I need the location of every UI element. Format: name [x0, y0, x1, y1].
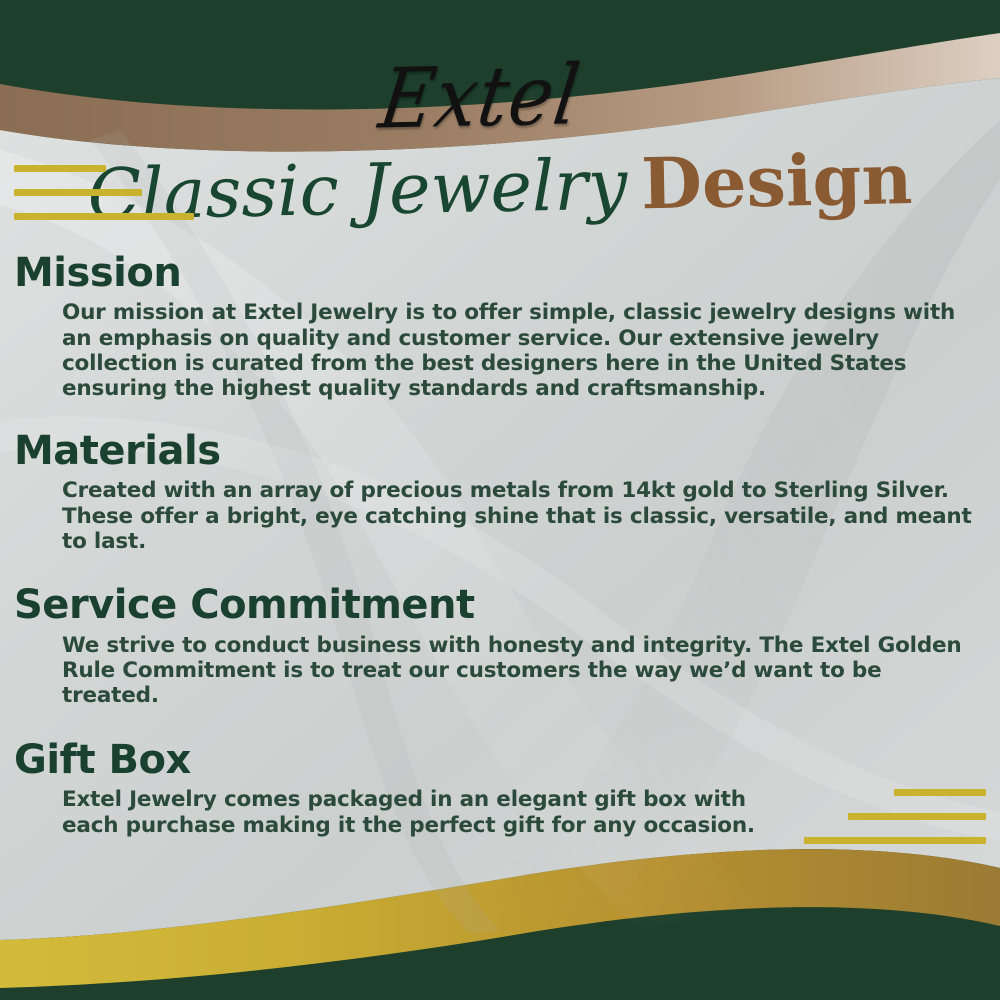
- section-mission: Mission Our mission at Extel Jewelry is …: [0, 248, 1000, 402]
- section-body-mission: Our mission at Extel Jewelry is to offer…: [62, 300, 980, 401]
- headline-italic-part: Classic Jewelry: [87, 144, 628, 236]
- headline-roman-part: Design: [640, 137, 913, 225]
- brand-name-text: Extel: [375, 54, 585, 141]
- brand-logo-script: Extel: [0, 50, 1000, 145]
- section-heading-materials: Materials: [14, 426, 1000, 476]
- section-service-commitment: Service Commitment We strive to conduct …: [0, 580, 1000, 708]
- section-heading-mission: Mission: [14, 248, 1000, 298]
- decorative-rule-top-left-3: [14, 213, 194, 220]
- poster-canvas: Extel Classic JewelryDesign Mission Our …: [0, 0, 1000, 1000]
- sections-container: Mission Our mission at Extel Jewelry is …: [0, 248, 1000, 842]
- gold-wave-band: [0, 849, 1000, 988]
- section-gift-box: Gift Box Extel Jewelry comes packaged in…: [0, 735, 1000, 838]
- section-body-gift-box: Extel Jewelry comes packaged in an elega…: [62, 787, 800, 838]
- section-heading-gift-box: Gift Box: [14, 735, 1000, 785]
- decorative-rule-top-left-2: [14, 189, 142, 196]
- section-heading-service-commitment: Service Commitment: [14, 580, 1000, 630]
- section-body-service-commitment: We strive to conduct business with hones…: [62, 633, 980, 709]
- section-body-materials: Created with an array of precious metals…: [62, 478, 980, 554]
- decorative-rule-top-left-1: [14, 165, 106, 172]
- section-materials: Materials Created with an array of preci…: [0, 426, 1000, 554]
